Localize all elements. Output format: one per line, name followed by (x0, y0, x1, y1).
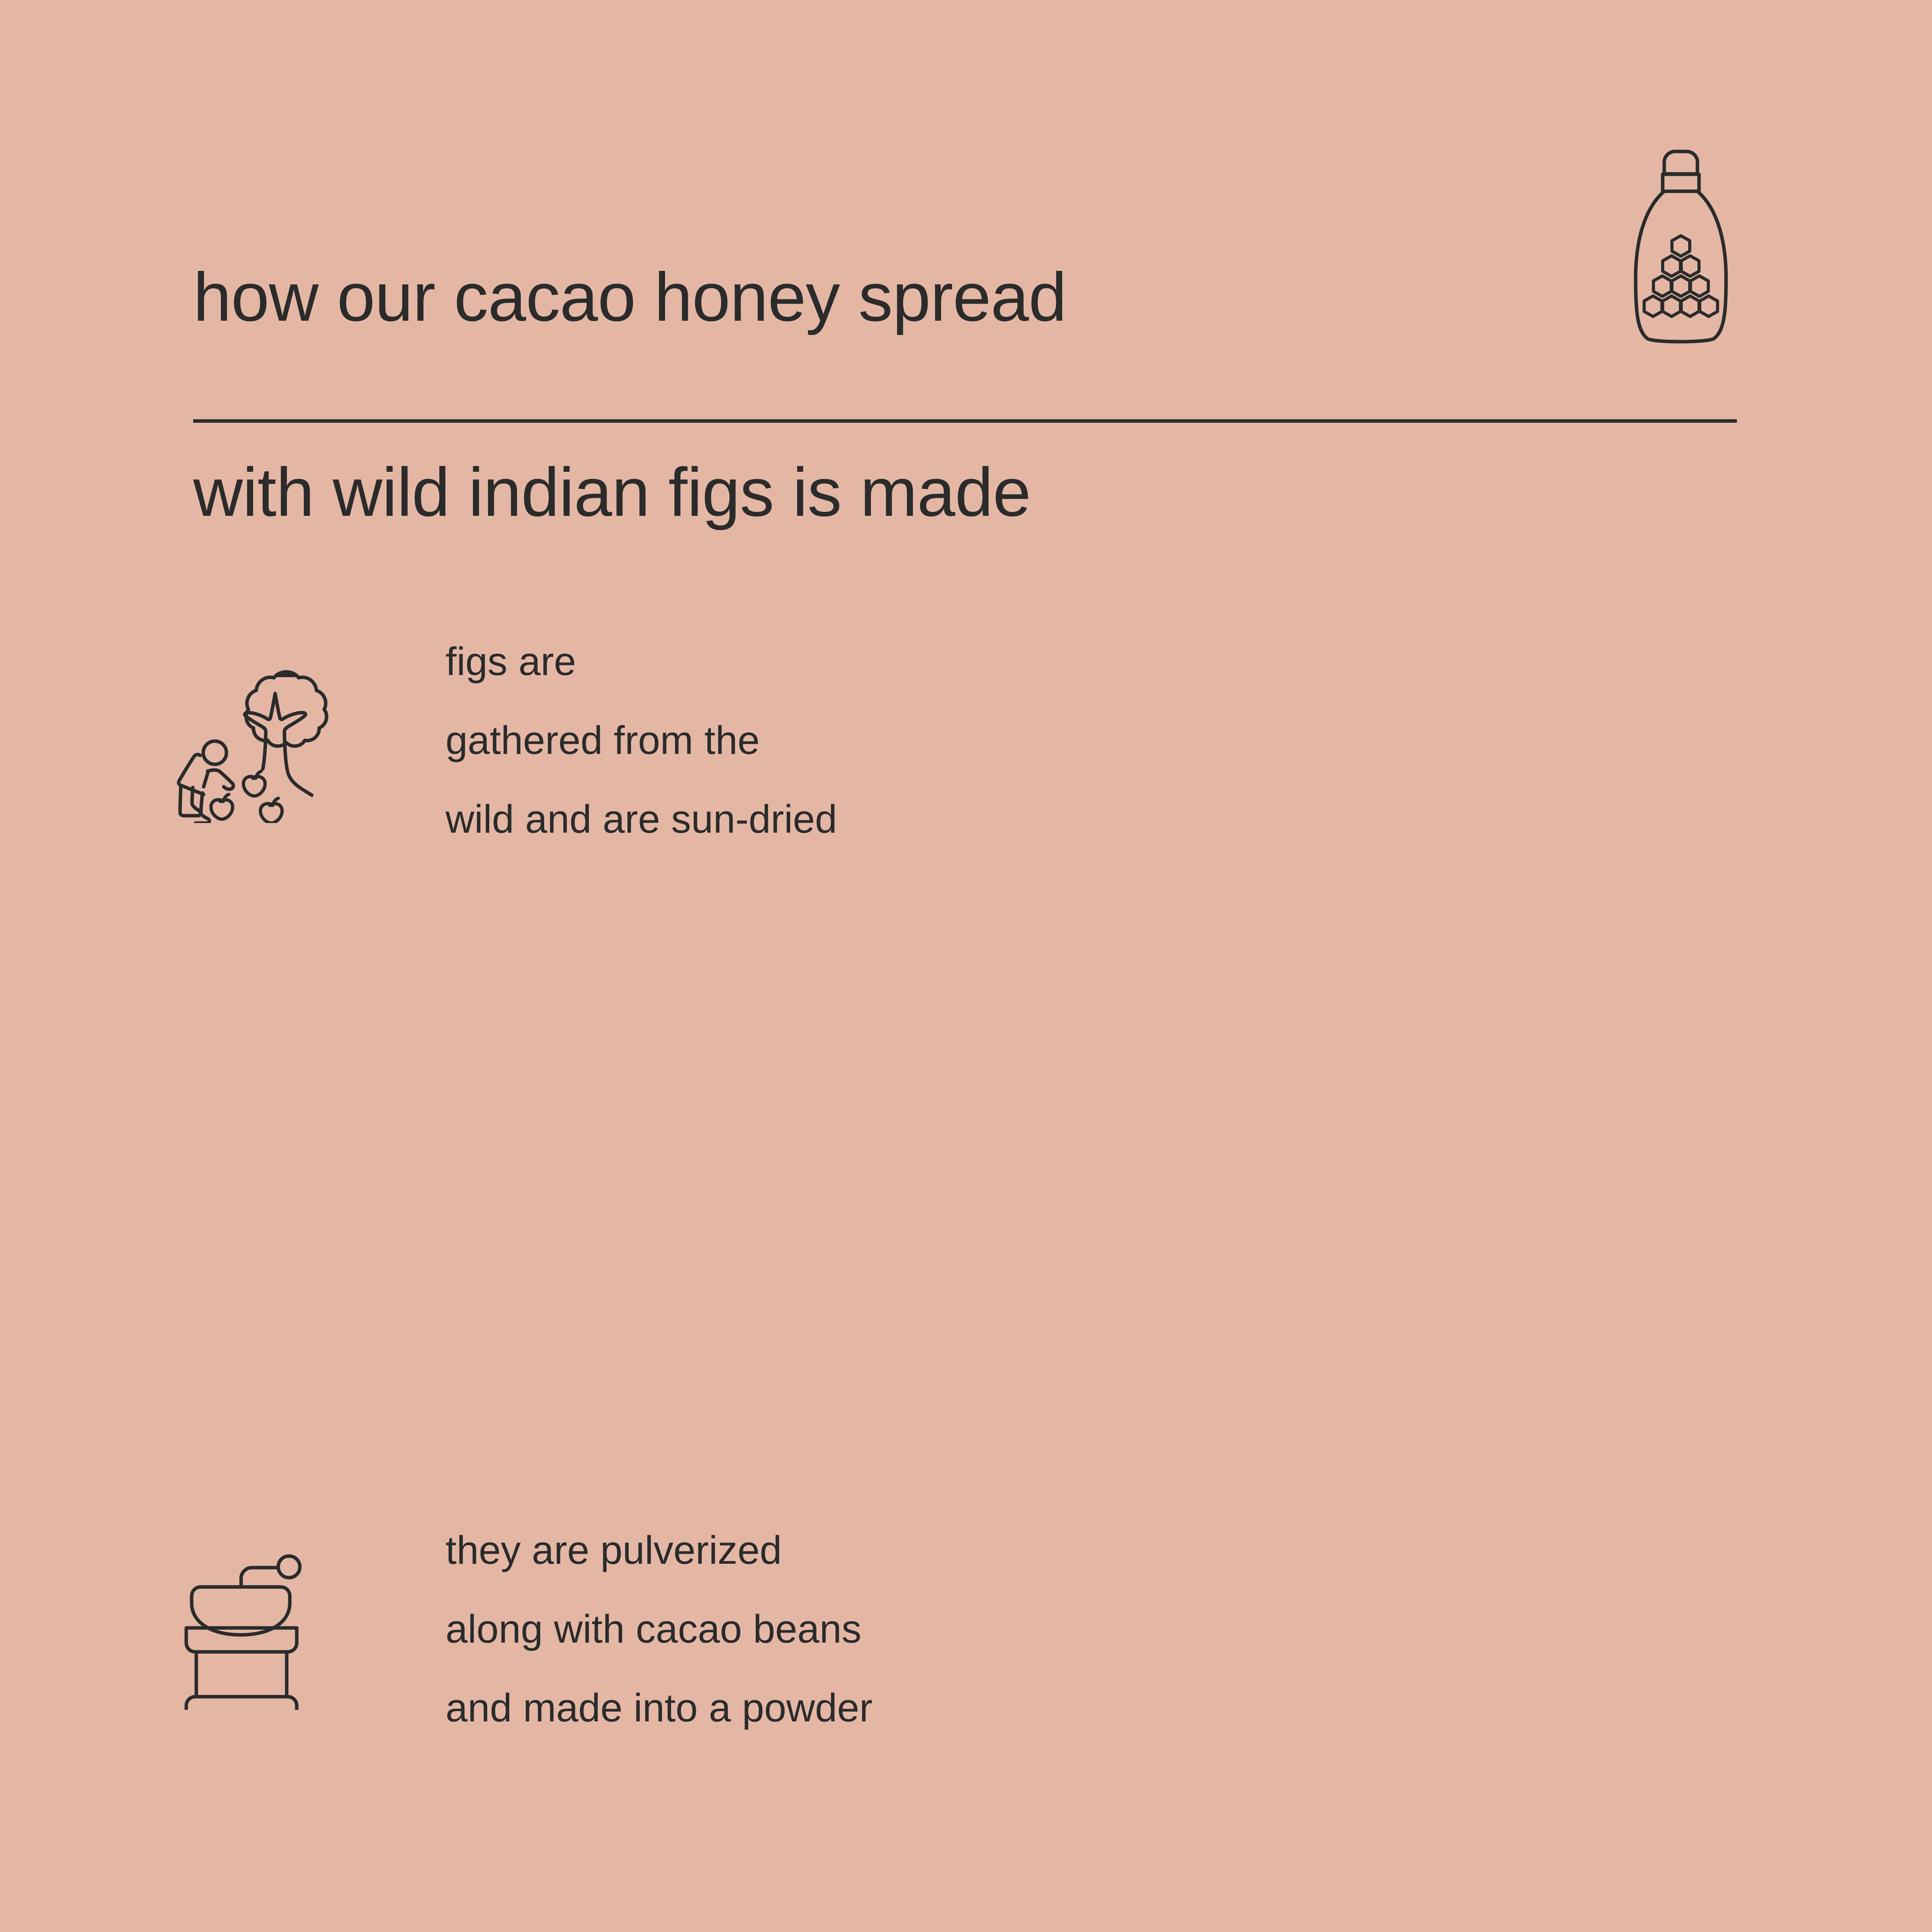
page-title-line-2: with wild indian figs is made (193, 444, 1739, 541)
step-line-1: figs are (446, 622, 837, 701)
header: how our cacao honey spread with wild ind… (193, 151, 1739, 383)
page-title-line-1: how our cacao honey spread (193, 248, 1739, 346)
infographic-page: how our cacao honey spread with wild ind… (0, 0, 1932, 1932)
list-item: they are then soaked in raw honey for a … (0, 1495, 1932, 1932)
page-title: how our cacao honey spread with wild ind… (193, 151, 1739, 639)
honey-bottle-icon (1629, 137, 1733, 357)
header-divider (193, 419, 1737, 423)
steps-list: figs are gathered from the wild and are … (0, 607, 1932, 1932)
list-item: they are pulverized along with cacao bea… (0, 1051, 1932, 1495)
fig-harvesting-tree-icon (166, 657, 332, 823)
list-item: figs are gathered from the wild and are … (0, 607, 1932, 1051)
step-description: figs are gathered from the wild and are … (446, 622, 837, 859)
step-line-2: gathered from the (446, 701, 837, 780)
step-line-3: wild and are sun-dried (446, 780, 837, 859)
